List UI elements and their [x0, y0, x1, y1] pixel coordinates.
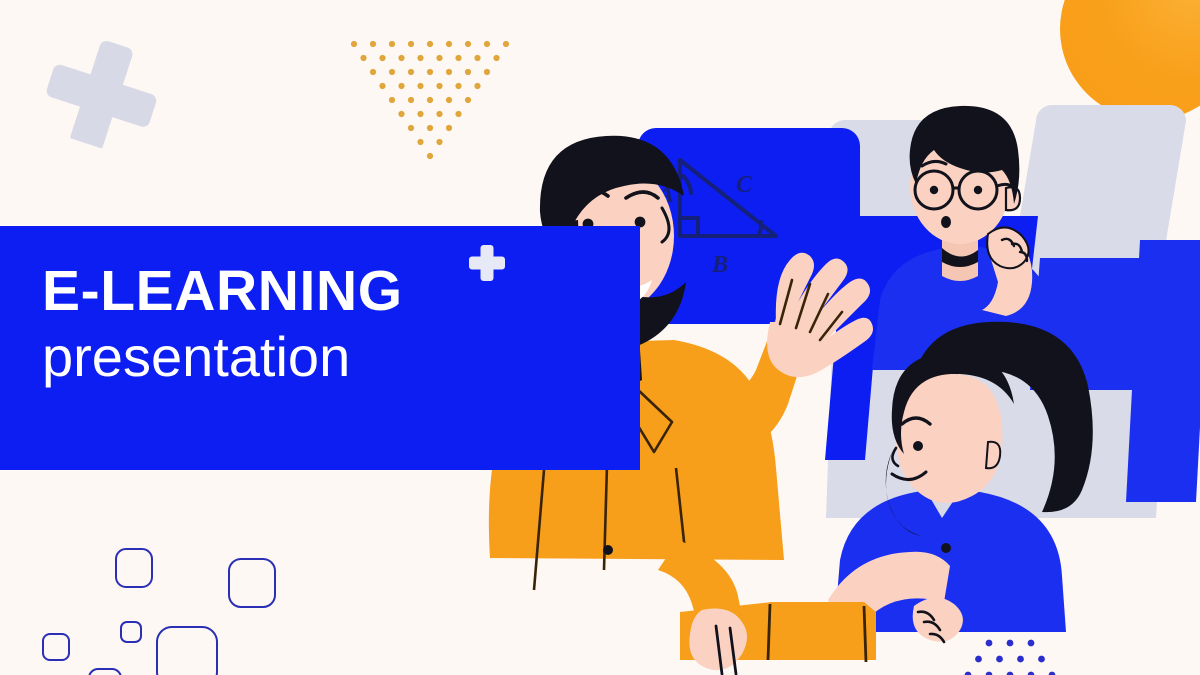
- decorative-dot: [370, 41, 376, 47]
- decorative-dot: [398, 111, 404, 117]
- decorative-dot: [408, 125, 414, 131]
- slide-title-block: E-LEARNING presentation: [42, 262, 602, 389]
- decorative-dot: [427, 153, 433, 159]
- decorative-dot: [417, 55, 423, 61]
- decorative-dot: [389, 97, 395, 103]
- decorative-dot: [398, 55, 404, 61]
- decorative-dot: [408, 41, 414, 47]
- illustration-description: A bearded teacher in an orange shirt pre…: [0, 0, 1, 1]
- decorative-dot: [379, 55, 385, 61]
- decorative-dot: [427, 125, 433, 131]
- rounded-square-decoration: [88, 668, 122, 675]
- decorative-dot: [417, 139, 423, 145]
- decorative-dot: [427, 97, 433, 103]
- decorative-dot: [408, 97, 414, 103]
- decorative-dot: [427, 69, 433, 75]
- decorative-dot: [379, 83, 385, 89]
- rounded-square-decoration: [228, 558, 276, 608]
- triangle-label-c: C: [736, 172, 753, 198]
- decorative-dot: [408, 69, 414, 75]
- plus-icon: [468, 244, 506, 282]
- decorative-dot: [360, 55, 366, 61]
- triangle-label-b: B: [711, 252, 728, 278]
- rounded-square-decoration: [115, 548, 153, 588]
- page-subtitle: presentation: [42, 326, 602, 389]
- decorative-dot: [389, 69, 395, 75]
- decorative-dot: [417, 111, 423, 117]
- rounded-square-decoration: [42, 633, 70, 661]
- plus-icon: [34, 22, 173, 161]
- decorative-dot: [370, 69, 376, 75]
- presentation-slide: A B C: [0, 0, 1200, 675]
- rounded-square-decoration: [120, 621, 142, 643]
- rounded-square-decoration: [156, 626, 218, 675]
- page-title: E-LEARNING: [42, 262, 602, 320]
- decorative-dot: [417, 83, 423, 89]
- decorative-dot: [398, 83, 404, 89]
- decorative-dot: [351, 41, 357, 47]
- decorative-dot: [427, 41, 433, 47]
- decorative-dot: [389, 41, 395, 47]
